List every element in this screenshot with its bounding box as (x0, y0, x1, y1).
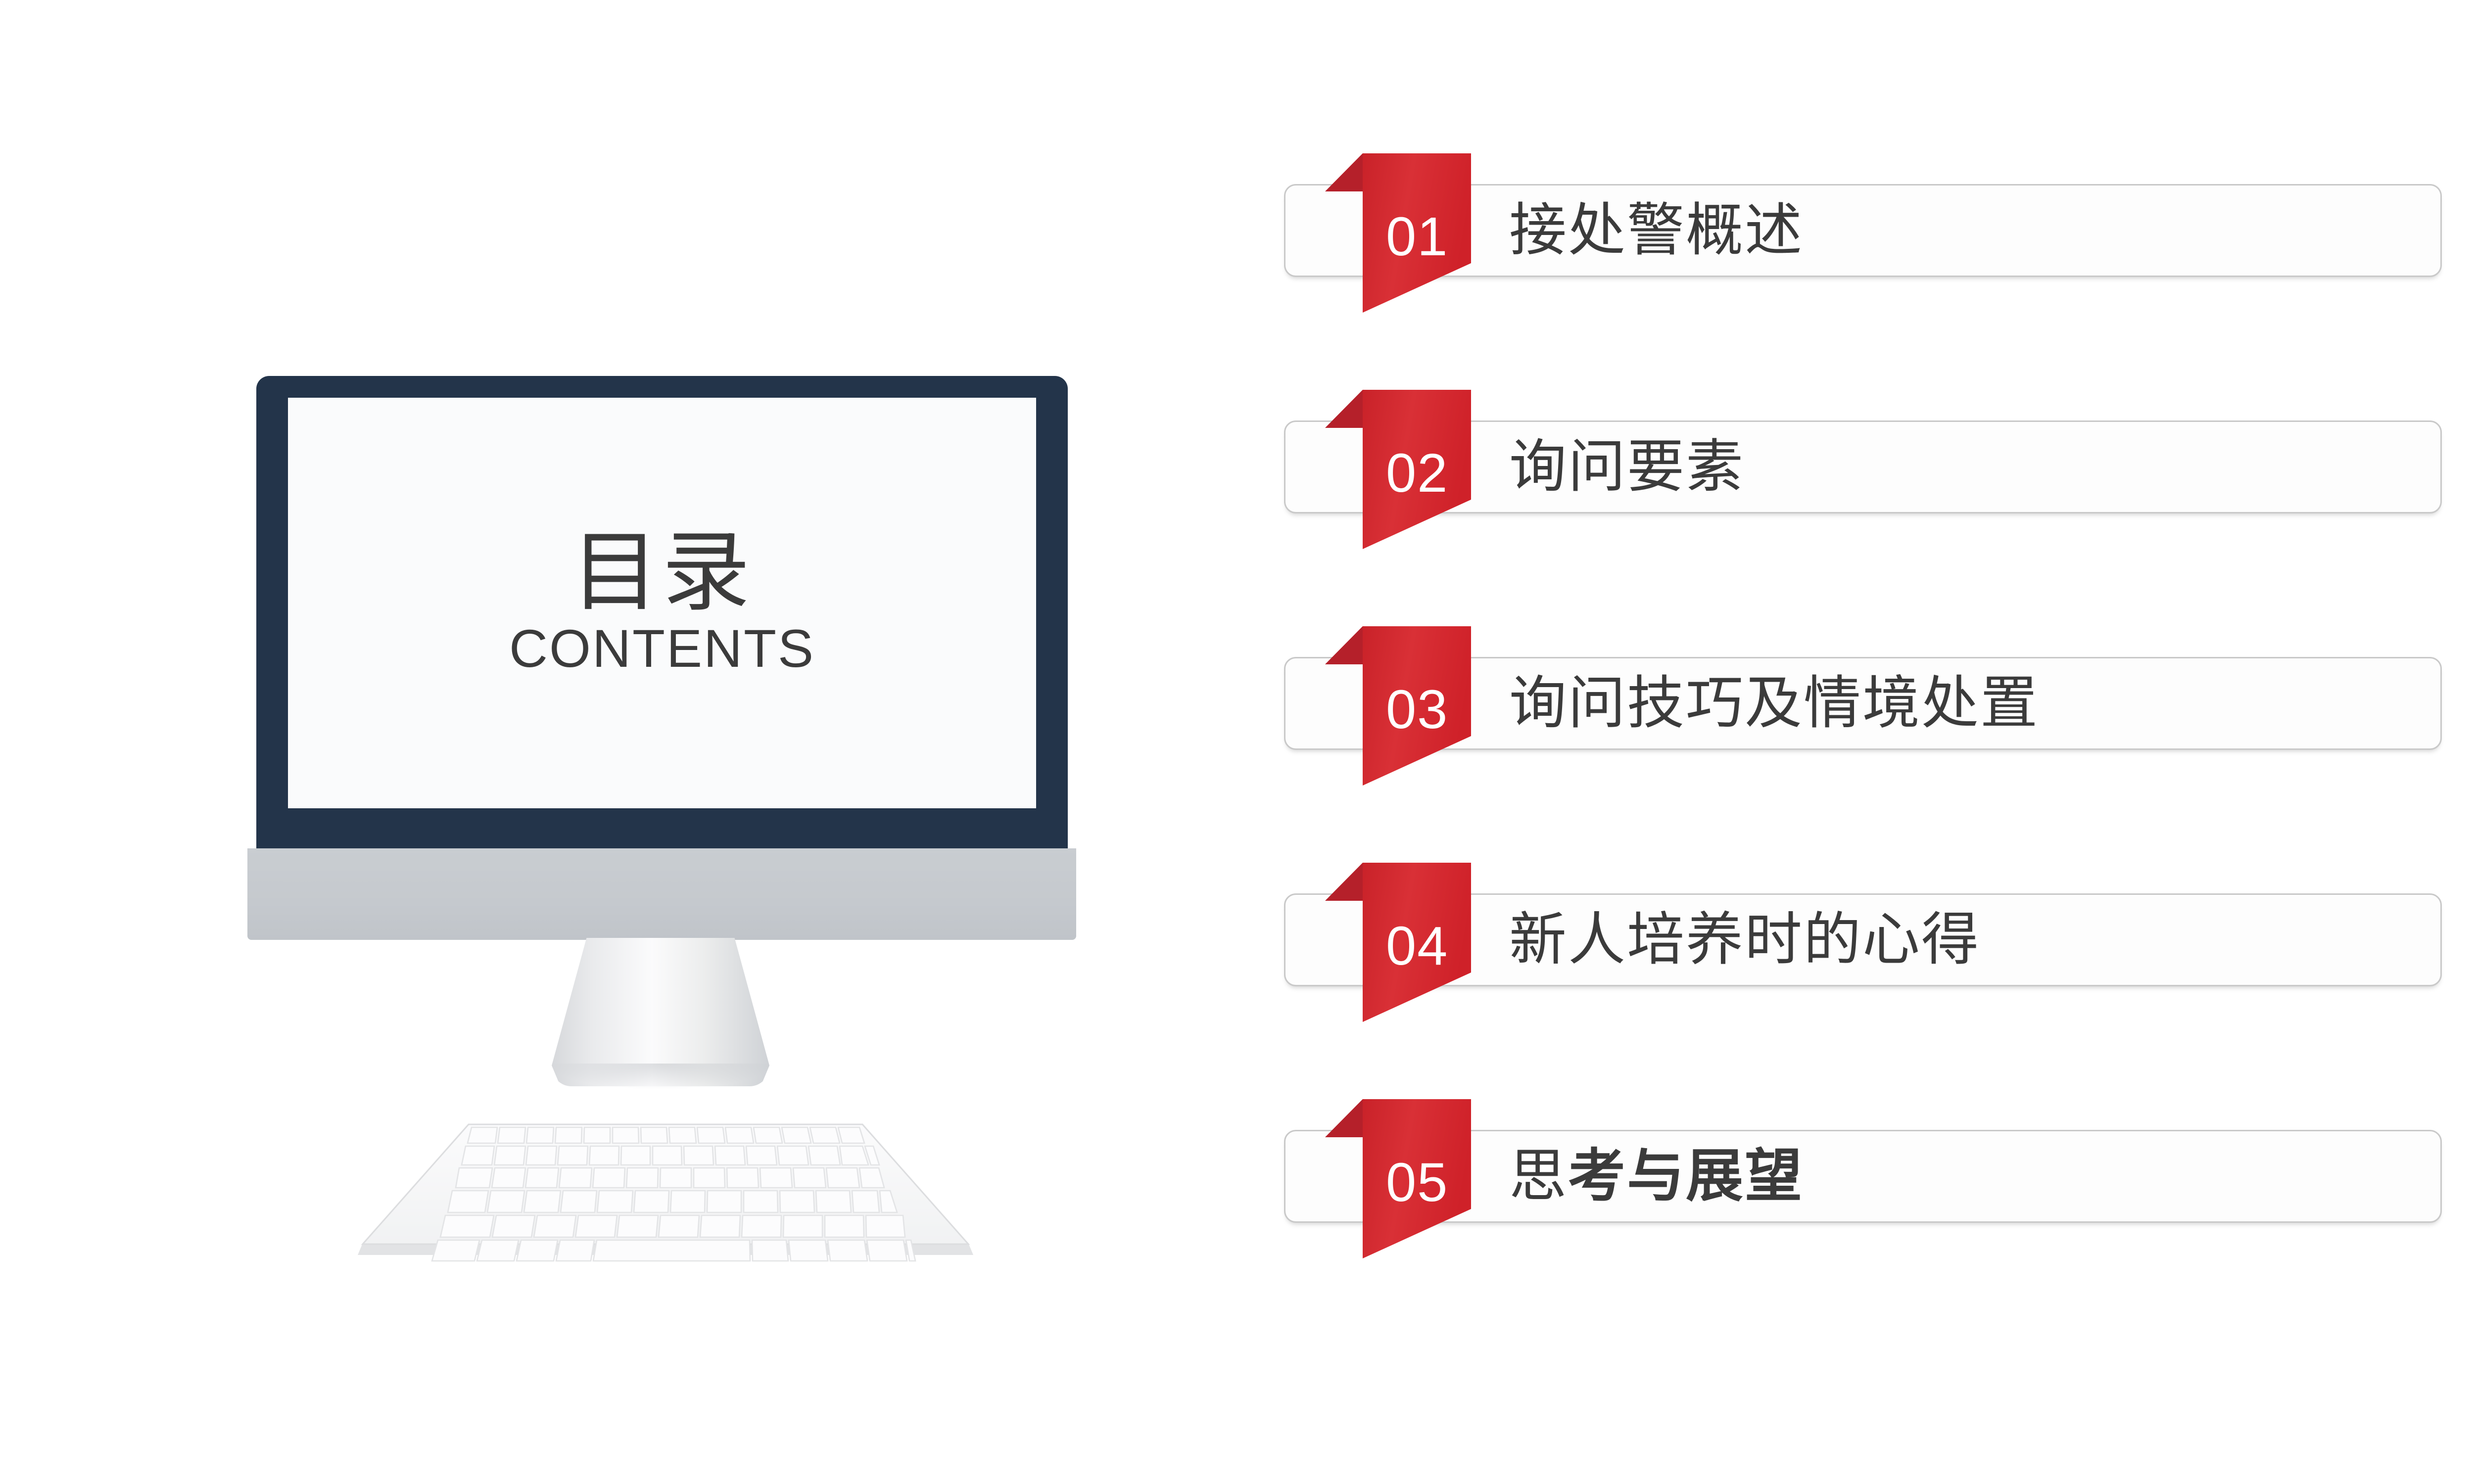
toc-row-04[interactable]: 04 新人培养时的心得 (1267, 848, 2464, 994)
monitor-bezel: 目录 CONTENTS (256, 376, 1068, 851)
toc-label-03: 询问技巧及情境处置 (1509, 657, 2039, 750)
ribbon-badge-02: 02 (1320, 386, 1483, 553)
keyboard-row-2 (462, 1146, 879, 1165)
monitor-illustration: 目录 CONTENTS (247, 376, 1089, 1217)
toc-label-05-plain: 思 (1509, 1148, 1568, 1205)
toc-label-05: 思考与展望 (1509, 1130, 1804, 1223)
keyboard-row-1 (468, 1127, 864, 1143)
ribbon-badge-04: 04 (1320, 859, 1483, 1026)
keyboard-keys (432, 1127, 915, 1261)
ribbon-number-02: 02 (1386, 446, 1524, 501)
ribbon-badge-01: 01 (1320, 149, 1483, 317)
screen-title-chinese: 目录 (571, 527, 753, 617)
ribbon-badge-05: 05 (1320, 1095, 1483, 1262)
monitor-screen: 目录 CONTENTS (288, 398, 1036, 808)
monitor-stand-shadow (552, 1064, 769, 1089)
ribbon-fold-01 (1325, 153, 1363, 191)
ribbon-number-03: 03 (1386, 683, 1524, 737)
keyboard-spacebar (593, 1240, 750, 1261)
keyboard-row-3 (456, 1168, 884, 1188)
ribbon-fold-05 (1325, 1099, 1363, 1137)
ribbon-number-04: 04 (1386, 919, 1524, 974)
ribbon-fold-04 (1325, 863, 1363, 901)
toc-row-02[interactable]: 02 询问要素 (1267, 375, 2464, 521)
keyboard-row-5 (440, 1215, 905, 1237)
slide-canvas: 目录 CONTENTS (0, 0, 2474, 1484)
ribbon-number-05: 05 (1386, 1156, 1524, 1210)
keyboard-svg (354, 1120, 977, 1279)
screen-title-english: CONTENTS (509, 619, 815, 679)
ribbon-fold-02 (1325, 390, 1363, 428)
ribbon-badge-03: 03 (1320, 622, 1483, 789)
ribbon-number-01: 01 (1386, 210, 1524, 264)
table-of-contents: 01 接处警概述 02 (1267, 139, 2464, 1336)
keyboard-row-6 (432, 1240, 915, 1261)
monitor-base (247, 848, 1076, 940)
keyboard-illustration (354, 1120, 977, 1279)
keyboard-row-4 (448, 1191, 897, 1212)
toc-label-02: 询问要素 (1509, 420, 1745, 513)
toc-row-03[interactable]: 03 询问技巧及情境处置 (1267, 611, 2464, 757)
toc-label-04: 新人培养时的心得 (1509, 893, 1980, 986)
toc-row-05[interactable]: 05 思考与展望 (1267, 1084, 2464, 1230)
toc-label-01: 接处警概述 (1509, 184, 1804, 277)
screen-text-block: 目录 CONTENTS (288, 398, 1036, 808)
ribbon-fold-03 (1325, 626, 1363, 664)
toc-label-05-bold: 考与展望 (1568, 1148, 1804, 1205)
toc-row-01[interactable]: 01 接处警概述 (1267, 139, 2464, 284)
